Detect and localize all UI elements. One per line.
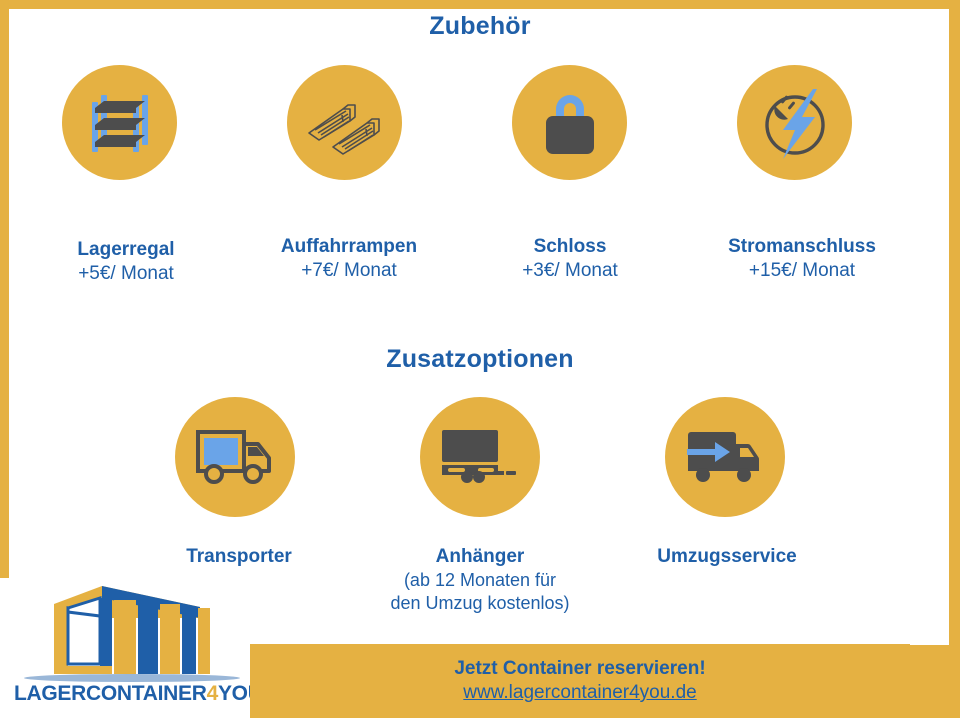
ramps-icon (303, 83, 387, 163)
item-label-schloss: Schloss +3€/ Monat (465, 235, 675, 282)
frame-border-left (0, 0, 9, 578)
icon-circle-padlock (512, 65, 627, 180)
cta-title: Jetzt Container reservieren! (454, 658, 705, 680)
logo-word-accent: 4 (207, 682, 218, 705)
item-label-auffahrrampen: Auffahrrampen +7€/ Monat (238, 235, 460, 282)
logo-word-main: LAGERCONTAINER (14, 682, 207, 705)
power-plug-icon (753, 81, 837, 165)
infographic-page: Zubehör (0, 0, 960, 718)
icon-circle-van (175, 397, 295, 517)
trailer-icon (438, 426, 522, 488)
footer-cta-bar[interactable]: Jetzt Container reservieren! www.lagerco… (250, 644, 910, 718)
logo-wordmark: LAGERCONTAINER4YOU (14, 682, 250, 706)
icon-circle-moving-truck (665, 397, 785, 517)
van-icon (195, 426, 275, 488)
icon-circle-shelf (62, 65, 177, 180)
item-label-anhaenger: Anhänger (ab 12 Monaten für den Umzug ko… (355, 545, 605, 615)
frame-border-right (949, 0, 960, 645)
icon-circle-power (737, 65, 852, 180)
cta-website-link[interactable]: www.lagercontainer4you.de (463, 682, 696, 704)
item-label-umzugsservice: Umzugsservice (625, 545, 829, 569)
icon-circle-trailer (420, 397, 540, 517)
shelf-icon (81, 84, 159, 162)
section-heading-zusatzoptionen: Zusatzoptionen (0, 345, 960, 374)
frame-corner-block (905, 645, 960, 718)
container-logo-icon (14, 582, 250, 686)
item-label-lagerregal: Lagerregal +5€/ Monat (16, 238, 236, 285)
item-label-transporter: Transporter (150, 545, 328, 569)
icon-circle-ramps (287, 65, 402, 180)
padlock-icon (535, 84, 605, 162)
frame-border-top (0, 0, 960, 9)
moving-truck-icon (685, 426, 765, 488)
brand-logo: LAGERCONTAINER4YOU (14, 582, 250, 714)
section-heading-zubehoer: Zubehör (0, 12, 960, 41)
item-label-stromanschluss: Stromanschluss +15€/ Monat (690, 235, 914, 282)
